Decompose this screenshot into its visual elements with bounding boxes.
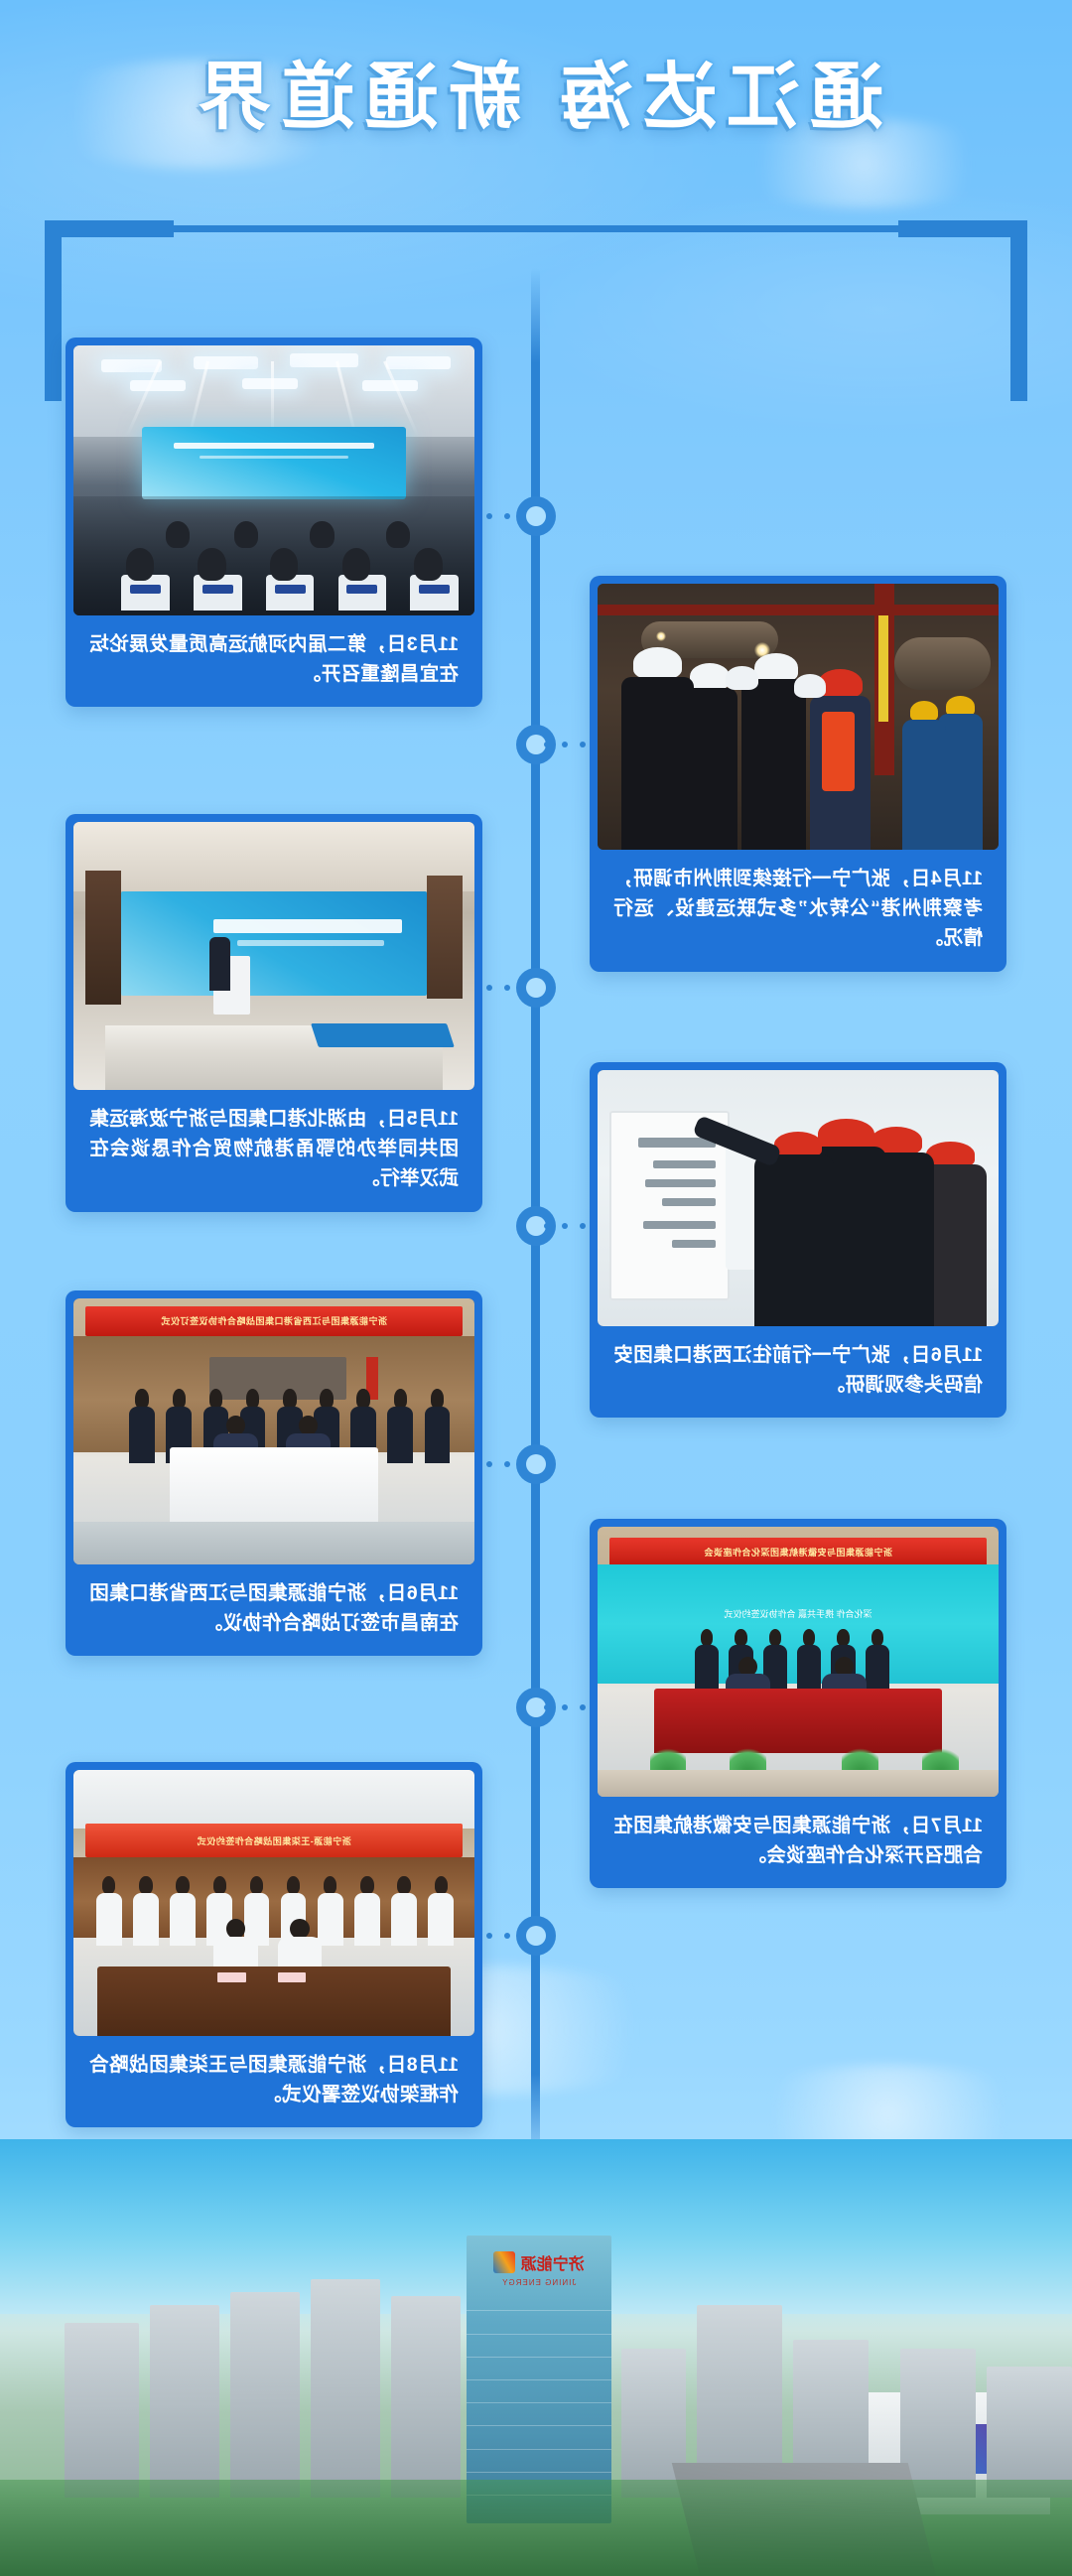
card-3-trade-forum-stage-photo — [73, 822, 474, 1090]
city-greenery — [0, 2480, 1072, 2576]
card-4-port-terminal-visit-photo — [598, 1070, 999, 1326]
timeline-card-7[interactable]: 浙宁能源-王柒集团战略合作签约仪式 — [66, 1762, 482, 2127]
card-3-caption: 11月5日，由湖北港口集团与浙宁波海运集团共同举办的鄂甬港航物贸合作恳谈会在武汉… — [73, 1090, 474, 1212]
timeline-node-5[interactable] — [516, 1444, 556, 1484]
timeline-card-4[interactable]: 11月6日，张广宁一行前往江西港口集团安信码头参观调研。 — [590, 1062, 1006, 1418]
jining-energy-logo-icon — [493, 2251, 515, 2273]
timeline-node-3[interactable] — [516, 968, 556, 1008]
card-6-banner-text: 浙宁能源集团与安徽港航集团深化合作座谈会 — [704, 1546, 892, 1559]
building-name-cn: 济宁能源 — [521, 2250, 585, 2274]
building-name-en: JINING ENERGY — [480, 2278, 597, 2287]
card-5-caption: 11月6日，浙宁能源集团与江西省港口集团在南昌市签订战略合作协议。 — [73, 1564, 474, 1656]
headquarters-city-photo: 济宁能源 JINING ENERGY — [0, 2139, 1072, 2576]
card-4-caption: 11月6日，张广宁一行前往江西港口集团安信码头参观调研。 — [598, 1326, 999, 1418]
timeline-card-3[interactable]: 11月5日，由湖北港口集团与浙宁波海运集团共同举办的鄂甬港航物贸合作恳谈会在武汉… — [66, 814, 482, 1212]
timeline-node-7[interactable] — [516, 1916, 556, 1956]
timeline-card-5[interactable]: 浙宁能源集团与江西省港口集团战略合作协议签订仪式 — [66, 1290, 482, 1656]
card-6-screen-text: 深化合作 携手共赢 合作协议签约仪式 — [725, 1607, 872, 1620]
card-5-signing-ceremony-nanchang-photo: 浙宁能源集团与江西省港口集团战略合作协议签订仪式 — [73, 1298, 474, 1564]
card-7-signing-ceremony-framework-photo: 浙宁能源-王柒集团战略合作签约仪式 — [73, 1770, 474, 2036]
card-7-caption: 11月8日，浙宁能源集团与王柒集团战略合作框架协议签署仪式。 — [73, 2036, 474, 2127]
timeline-card-1[interactable]: 11月3日，第二届内河航运高质量发展论坛在宜昌隆重召开。 — [66, 338, 482, 707]
card-7-banner: 浙宁能源-王柒集团战略合作签约仪式 — [85, 1824, 463, 1858]
card-1-caption: 11月3日，第二届内河航运高质量发展论坛在宜昌隆重召开。 — [73, 615, 474, 707]
card-7-banner-text: 浙宁能源-王柒集团战略合作签约仪式 — [197, 1834, 351, 1847]
card-2-caption: 11月4日，张广宁一行接续到荆州市调研，考察荆州港“公转水”多式联运建设、运行情… — [598, 850, 999, 972]
timeline-node-1[interactable] — [516, 496, 556, 536]
timeline-card-2[interactable]: 11月4日，张广宁一行接续到荆州市调研，考察荆州港“公转水”多式联运建设、运行情… — [590, 576, 1006, 972]
timeline-card-6[interactable]: 浙宁能源集团与安徽港航集团深化合作座谈会 深化合作 携手共赢 合作协议签约仪式 — [590, 1519, 1006, 1888]
card-6-caption: 11月7日，浙宁能源集团与安徽港航集团在合肥召开深化合作座谈会。 — [598, 1797, 999, 1888]
card-5-banner-text: 浙宁能源集团与江西省港口集团战略合作协议签订仪式 — [161, 1314, 387, 1327]
card-5-banner: 浙宁能源集团与江西省港口集团战略合作协议签订仪式 — [85, 1306, 463, 1335]
page-title: 通江达海 新通道界 — [0, 38, 1072, 144]
card-6-signing-ceremony-hefei-photo: 浙宁能源集团与安徽港航集团深化合作座谈会 深化合作 携手共赢 合作协议签约仪式 — [598, 1527, 999, 1797]
card-1-forum-audience-photo — [73, 345, 474, 615]
mirrored-artwork-root: 通江达海 新通道界 — [0, 0, 1072, 2576]
card-6-banner: 浙宁能源集团与安徽港航集团深化合作座谈会 — [609, 1538, 987, 1567]
card-2-factory-inspection-photo — [598, 584, 999, 850]
